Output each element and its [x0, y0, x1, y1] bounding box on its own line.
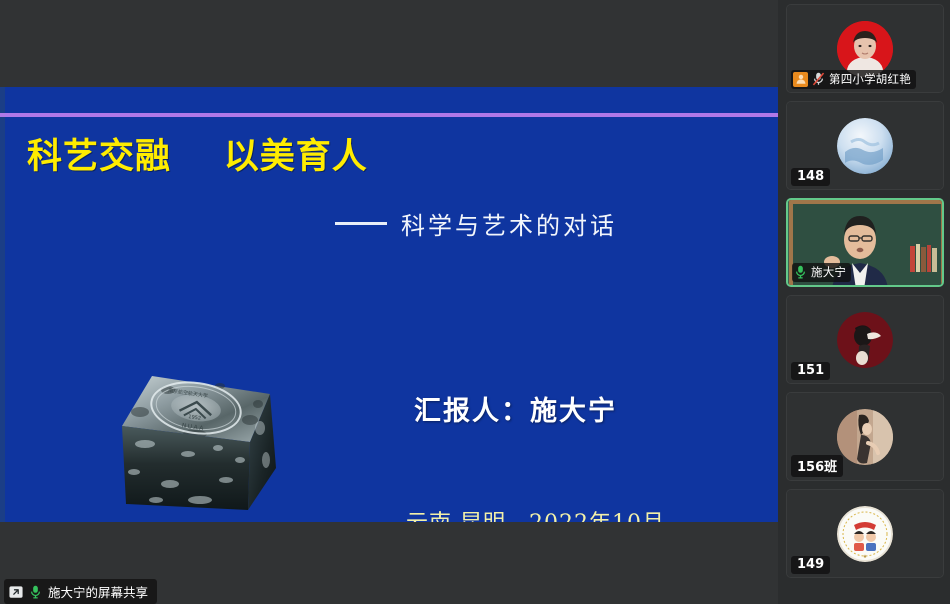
participant-name: 施大宁	[811, 264, 846, 280]
slide-divider-rule	[0, 113, 778, 117]
slide-subtitle-row: 科学与艺术的对话	[335, 206, 617, 241]
presentation-slide: 科艺交融 以美育人 科学与艺术的对话	[0, 87, 778, 522]
participant-tile[interactable]: 第四小学胡红艳	[786, 4, 944, 93]
avatar	[837, 118, 893, 174]
participant-name: 151	[797, 363, 824, 378]
participant-number-chip: 149	[791, 556, 830, 574]
participant-number-chip: 151	[791, 362, 830, 380]
participant-tile-active-speaker[interactable]: 施大宁	[786, 198, 944, 287]
shared-screen-viewport[interactable]: 科艺交融 以美育人 科学与艺术的对话	[0, 0, 778, 604]
microphone-on-icon	[794, 265, 807, 279]
participant-tile[interactable]: 156班	[786, 392, 944, 481]
participant-tile[interactable]: ★ 149	[786, 489, 944, 578]
slide-title: 科艺交融 以美育人	[27, 128, 368, 179]
participant-name: 156班	[797, 456, 837, 475]
avatar	[837, 312, 893, 368]
slide-subtitle: 科学与艺术的对话	[401, 206, 617, 241]
microphone-muted-icon	[812, 72, 825, 86]
participant-name: 第四小学胡红艳	[829, 71, 911, 87]
participant-number-chip: 148	[791, 168, 830, 186]
participant-number-chip: 156班	[791, 455, 843, 477]
slide-presenter: 汇报人：施大宁	[414, 389, 617, 428]
screen-share-label: 施大宁的屏幕共享	[48, 582, 148, 601]
participant-name-chip: 施大宁	[792, 263, 851, 282]
em-dash-rule	[335, 222, 387, 225]
participant-filmstrip[interactable]: 第四小学胡红艳	[778, 0, 950, 604]
participant-name: 149	[797, 557, 824, 572]
host-person-icon	[793, 72, 808, 87]
participant-name: 148	[797, 169, 824, 184]
slide-left-edge	[0, 87, 5, 522]
svg-text:★: ★	[863, 554, 868, 560]
participant-tile[interactable]: 148	[786, 101, 944, 190]
avatar	[837, 21, 893, 77]
slide-place-date: 云南 昆明，2022年10月	[406, 505, 665, 522]
letterbox-top	[0, 0, 778, 87]
meeting-window: 科艺交融 以美育人 科学与艺术的对话	[0, 0, 950, 604]
screen-share-indicator: 施大宁的屏幕共享	[4, 579, 157, 604]
stone-block-image: 1952 NUAA 南京航空航天大学	[100, 368, 306, 522]
avatar	[837, 409, 893, 465]
avatar: ★	[837, 506, 893, 562]
screen-share-icon	[9, 585, 23, 599]
participant-name-chip: 第四小学胡红艳	[791, 70, 916, 89]
participant-tile[interactable]: 151	[786, 295, 944, 384]
microphone-on-icon	[29, 585, 42, 599]
